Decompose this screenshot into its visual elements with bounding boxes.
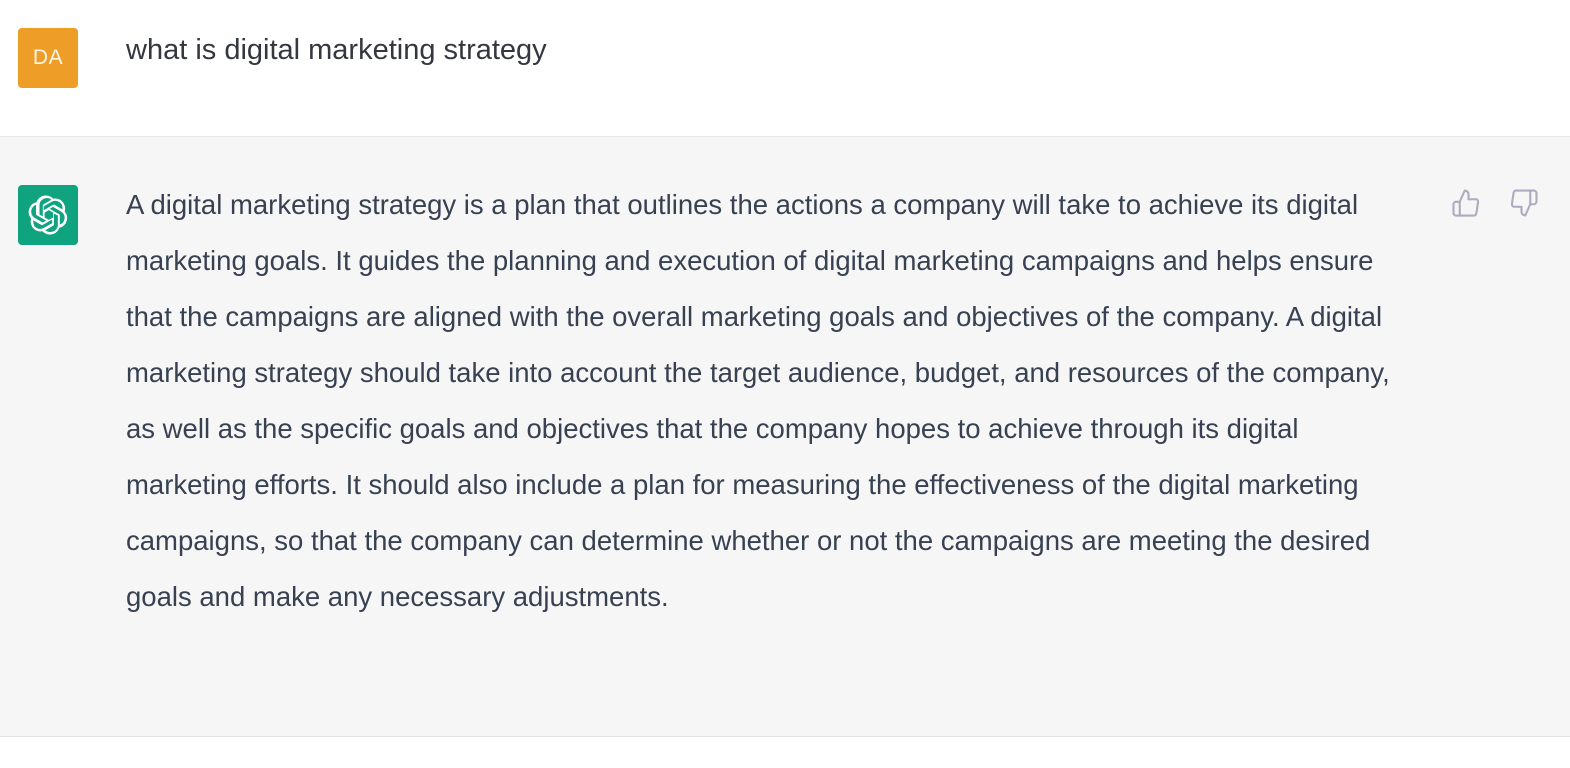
user-message-inner: DA what is digital marketing strategy [0,0,1570,136]
feedback-actions [1448,185,1542,221]
assistant-message-body: A digital marketing strategy is a plan t… [78,185,1406,625]
avatar [18,185,78,245]
assistant-message-text: A digital marketing strategy is a plan t… [126,177,1406,625]
user-message-row: DA what is digital marketing strategy [0,0,1570,137]
user-message-text: what is digital marketing strategy [126,30,547,70]
openai-logo-icon [28,195,68,235]
assistant-message-inner: A digital marketing strategy is a plan t… [0,137,1570,736]
thumbs-up-button[interactable] [1448,185,1484,221]
thumbs-up-icon [1451,188,1481,218]
assistant-message-content: A digital marketing strategy is a plan t… [0,137,1570,675]
chat-thread: DA what is digital marketing strategy A … [0,0,1570,768]
avatar: DA [18,28,78,88]
thumbs-down-button[interactable] [1506,185,1542,221]
user-message-body: what is digital marketing strategy [78,28,547,70]
avatar-initials: DA [33,46,63,70]
assistant-message-row: A digital marketing strategy is a plan t… [0,137,1570,737]
thumbs-down-icon [1509,188,1539,218]
thread-bottom-spacer [0,737,1570,768]
